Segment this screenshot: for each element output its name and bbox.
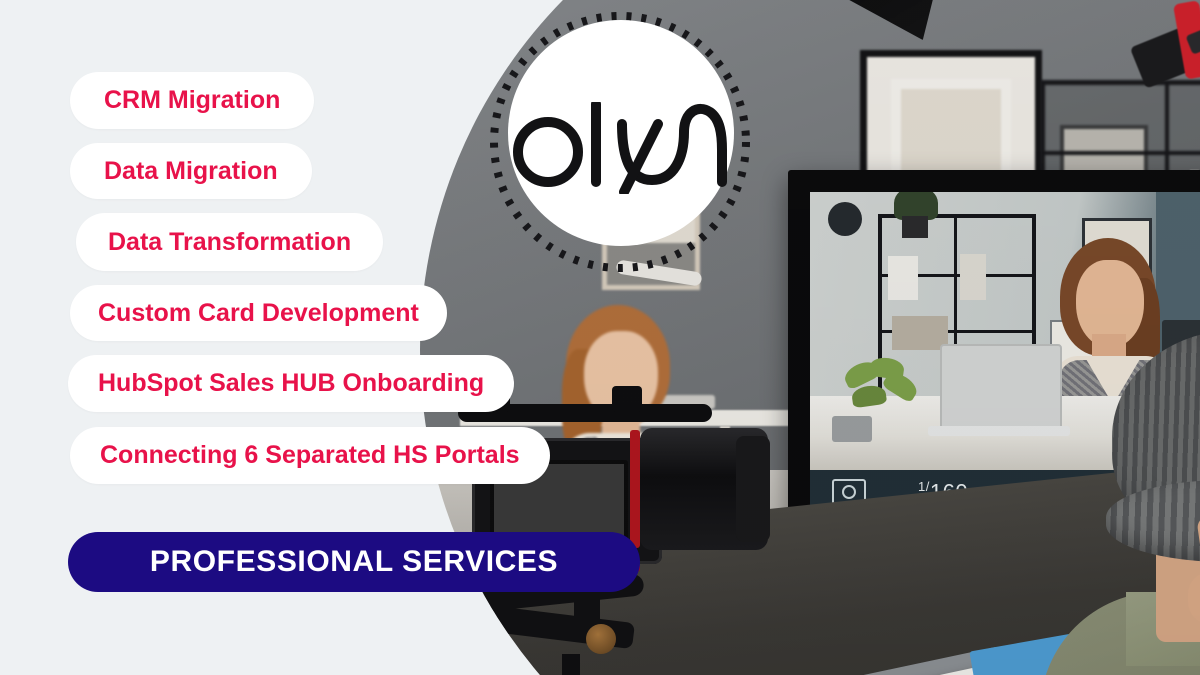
service-pill-label: Data Transformation	[108, 213, 351, 271]
professional-services-banner[interactable]: PROFESSIONAL SERVICES	[68, 532, 640, 592]
brand-badge	[486, 8, 754, 276]
service-pill-label: CRM Migration	[104, 72, 280, 129]
poster-canvas: 1/160 F3.5 ISO8	[0, 0, 1200, 675]
banner-label: PROFESSIONAL SERVICES	[150, 545, 558, 579]
service-pill-label: Connecting 6 Separated HS Portals	[100, 427, 520, 484]
service-pill-data-migration[interactable]: Data Migration	[70, 143, 312, 199]
service-pill-hubspot-sales-hub-onboarding[interactable]: HubSpot Sales HUB Onboarding	[68, 355, 514, 412]
service-pill-label: Custom Card Development	[98, 285, 419, 341]
service-pill-data-transformation[interactable]: Data Transformation	[76, 213, 383, 271]
service-pill-connecting-hs-portals[interactable]: Connecting 6 Separated HS Portals	[70, 427, 550, 484]
service-pill-custom-card-development[interactable]: Custom Card Development	[70, 285, 447, 341]
service-pill-label: HubSpot Sales HUB Onboarding	[98, 355, 484, 412]
service-pill-label: Data Migration	[104, 143, 278, 199]
olyn-logo-icon	[512, 102, 732, 194]
service-pill-crm-migration[interactable]: CRM Migration	[70, 72, 314, 129]
